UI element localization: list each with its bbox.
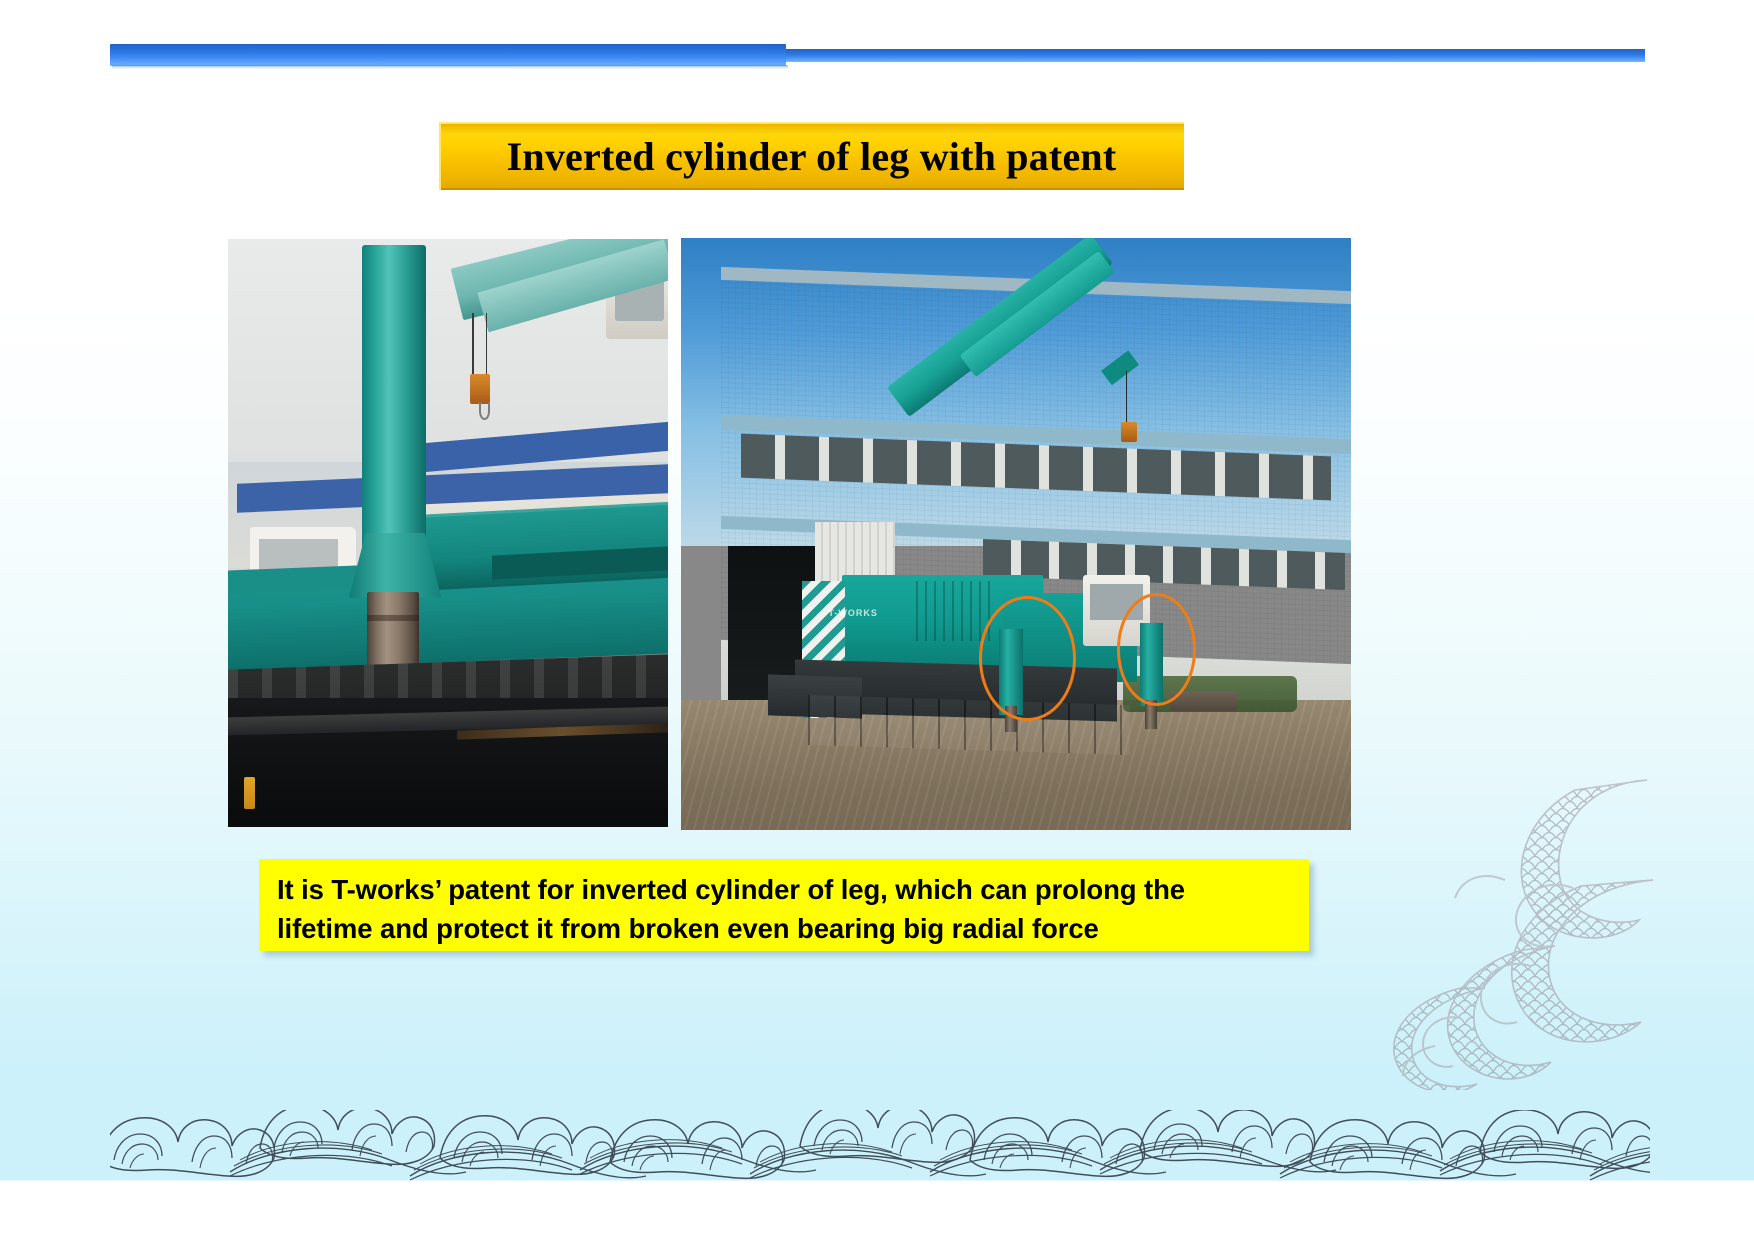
cylinder-band-upper [367,615,420,621]
highlight-circle-leg-2 [1117,593,1197,706]
brand-marking: T-WORKS [828,608,888,626]
hoist-rope-left [472,313,474,384]
photo-inverted-cylinder-closeup [228,239,668,827]
caption-line-2: lifetime and protect it from broken even… [277,909,1299,948]
slide-canvas: Inverted cylinder of leg with patent [0,0,1754,1240]
caption-text: It is T-works’ patent for inverted cylin… [277,870,1299,948]
hoist-rope [1126,371,1128,424]
hoist-rope-right [486,313,488,384]
support-mat-main [808,695,1130,755]
page-title: Inverted cylinder of leg with patent [439,122,1184,190]
slide-title-plate: Inverted cylinder of leg with patent [439,122,1184,190]
caption-box: It is T-works’ patent for inverted cylin… [259,859,1309,951]
crane-hook [479,402,490,419]
photo-crane-in-yard: T-WORKS [681,238,1351,830]
wave-ornament [110,1110,1650,1182]
header-bar-shadow [112,65,788,69]
header-decor-bar [110,44,1645,70]
crane-hook-block [470,374,490,403]
header-bar-segment-left [110,44,786,66]
dragon-ornament [1255,760,1655,1090]
yellow-chock [244,777,255,809]
highlight-circle-leg-1 [979,596,1075,720]
caption-line-1: It is T-works’ patent for inverted cylin… [277,870,1299,909]
crane-hook-block [1121,422,1137,442]
leg-housing-column [362,245,426,574]
header-bar-segment-right [786,49,1645,62]
